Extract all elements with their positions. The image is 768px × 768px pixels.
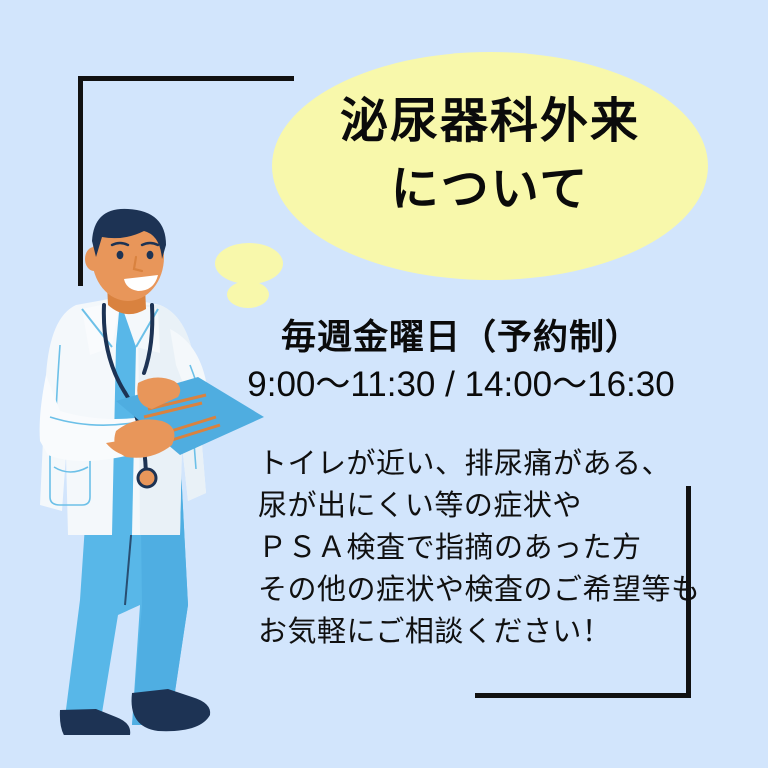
body-copy-line-3: ＰＳＡ検査で指摘のあった方	[258, 527, 688, 569]
ear	[85, 247, 103, 271]
doctor-illustration	[20, 205, 270, 735]
shoe-right	[132, 689, 211, 731]
shoe-left	[60, 709, 130, 735]
bracket-top-left-horizontal	[78, 76, 294, 81]
body-copy-line-2: 尿が出にくい等の症状や	[258, 485, 688, 527]
body-copy-line-5: お気軽にご相談ください！	[258, 611, 688, 653]
stethoscope-chestpiece	[138, 469, 156, 487]
schedule-time: 9:00〜11:30 / 14:00〜16:30	[196, 362, 726, 408]
schedule-block: 毎週金曜日（予約制） 9:00〜11:30 / 14:00〜16:30	[196, 316, 726, 407]
eye-right	[147, 251, 154, 259]
page-title-line-1: 泌尿器科外来	[272, 88, 708, 156]
schedule-day: 毎週金曜日（予約制）	[196, 316, 726, 360]
body-copy-line-1: トイレが近い、排尿痛がある、	[258, 443, 688, 485]
body-copy-line-4: その他の症状や検査のご希望等も	[258, 569, 688, 611]
poster-canvas: 泌尿器科外来 について 毎週金曜日（予約制） 9:00〜11:30 / 14:0…	[0, 0, 768, 768]
eye-left	[117, 251, 124, 259]
page-title-line-2: について	[272, 156, 708, 224]
page-title: 泌尿器科外来 について	[272, 88, 708, 224]
bracket-bottom-right-horizontal	[475, 693, 691, 698]
body-copy: トイレが近い、排尿痛がある、 尿が出にくい等の症状や ＰＳＡ検査で指摘のあった方…	[258, 443, 688, 653]
